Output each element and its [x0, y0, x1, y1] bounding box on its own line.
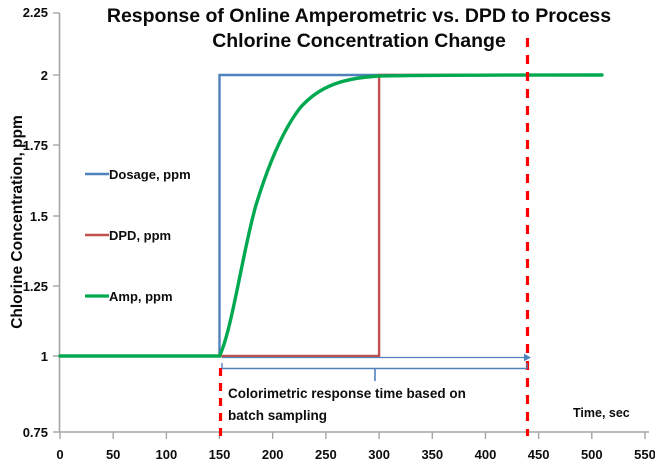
x-tick-label-150: 150	[209, 447, 231, 462]
y-tick-label-15: 1.5	[30, 209, 48, 224]
legend-label-amp: Amp, ppm	[109, 289, 173, 304]
y-tick-label-175: 1.75	[23, 138, 48, 153]
x-tick-label-200: 200	[262, 447, 284, 462]
y-tick-label-125: 1.25	[23, 279, 48, 294]
x-tick-label-450: 450	[528, 447, 550, 462]
y-tick-label-075: 0.75	[23, 425, 48, 440]
span-brace-bar	[222, 363, 527, 369]
legend-item-amp[interactable]: Amp, ppm	[85, 289, 173, 304]
y-tick-label-1: 1	[41, 349, 48, 364]
y-tick-label-2: 2	[41, 68, 48, 83]
chart-title-line-2: Chlorine Concentration Change	[212, 30, 506, 52]
y-tick-label-225: 2.25	[23, 5, 48, 20]
legend-item-dosage[interactable]: Dosage, ppm	[85, 167, 191, 182]
x-tick-label-250: 250	[315, 447, 337, 462]
series-line-dpd	[60, 75, 602, 356]
legend-label-dpd: DPD, ppm	[109, 228, 171, 243]
x-tick-label-350: 350	[421, 447, 443, 462]
chart-container: Response of Online Amperometric vs. DPD …	[0, 0, 655, 474]
annotation-text-line-2: batch sampling	[228, 408, 327, 423]
chart-canvas: Response of Online Amperometric vs. DPD …	[0, 0, 655, 474]
x-axis: 0 50 100 150 200 250 300 350 400 450 500…	[56, 406, 655, 462]
x-tick-label-550: 550	[634, 447, 655, 462]
legend-item-dpd[interactable]: DPD, ppm	[85, 228, 171, 243]
x-tick-label-400: 400	[475, 447, 497, 462]
y-axis: 2.25 2 1.75 1.5 1.25 1 0.75 Chlorine Con…	[9, 5, 60, 440]
x-tick-label-100: 100	[156, 447, 178, 462]
chart-title: Response of Online Amperometric vs. DPD …	[107, 5, 611, 52]
annotation-text-block: Colorimetric response time based on batc…	[228, 386, 466, 423]
x-axis-title: Time, sec	[573, 406, 630, 420]
series-line-dosage	[60, 75, 602, 356]
annotation-text-line-1: Colorimetric response time based on	[228, 386, 466, 401]
x-tick-label-300: 300	[368, 447, 390, 462]
chart-title-line-1: Response of Online Amperometric vs. DPD …	[107, 5, 611, 27]
legend-label-dosage: Dosage, ppm	[109, 167, 191, 182]
span-arrowhead-icon	[524, 354, 531, 361]
x-tick-label-500: 500	[581, 447, 603, 462]
response-time-span-annotation	[222, 354, 531, 381]
series-line-amp	[60, 75, 602, 356]
chart-legend: Dosage, ppm DPD, ppm Amp, ppm	[85, 167, 191, 304]
x-tick-label-0: 0	[56, 447, 63, 462]
x-tick-label-50: 50	[106, 447, 120, 462]
y-axis-title: Chlorine Concentration, ppm	[9, 115, 26, 329]
